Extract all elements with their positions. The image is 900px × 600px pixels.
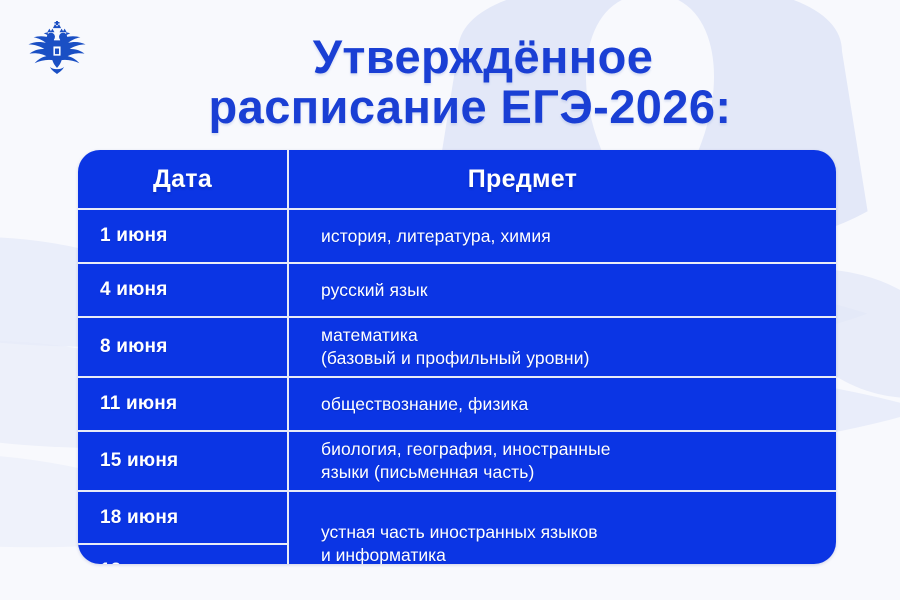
page-title-line-1: Утверждённое — [70, 32, 860, 82]
column-header-date: Дата — [78, 150, 287, 208]
subject-line: биология, география, иностранные — [321, 438, 611, 461]
table-row: 8 июня математика (базовый и профильный … — [78, 318, 836, 376]
cell-date: 1 июня — [78, 210, 287, 262]
table-row-merged: 18 июня 19 июня устная часть иностранных… — [78, 492, 836, 564]
double-headed-eagle-emblem-icon — [26, 20, 88, 76]
merged-date-cells: 18 июня 19 июня — [78, 492, 287, 564]
cell-date: 15 июня — [78, 432, 287, 490]
table-row: 11 июня обществознание, физика — [78, 378, 836, 430]
subject-line: (базовый и профильный уровни) — [321, 347, 590, 370]
page-title: Утверждённое расписание ЕГЭ-2026: — [70, 32, 860, 132]
table-row: 15 июня биология, география, иностранные… — [78, 432, 836, 490]
cell-subject: математика (базовый и профильный уровни) — [287, 318, 836, 376]
cell-date: 11 июня — [78, 378, 287, 430]
subject-line: и информатика — [321, 544, 598, 564]
subject-line: история, литература, химия — [321, 225, 551, 248]
exam-schedule-table: Дата Предмет 1 июня история, литература,… — [78, 150, 836, 564]
subject-line: языки (письменная часть) — [321, 461, 611, 484]
subject-line: обществознание, физика — [321, 393, 528, 416]
column-divider — [287, 150, 289, 564]
cell-date: 4 июня — [78, 264, 287, 316]
cell-subject: русский язык — [287, 264, 836, 316]
table-row: 1 июня история, литература, химия — [78, 210, 836, 262]
subject-line: математика — [321, 324, 590, 347]
cell-subject: обществознание, физика — [287, 378, 836, 430]
subject-line: устная часть иностранных языков — [321, 521, 598, 544]
table-header-row: Дата Предмет — [78, 150, 836, 208]
cell-subject: биология, география, иностранные языки (… — [287, 432, 836, 490]
cell-date: 19 июня — [78, 545, 287, 564]
cell-subject-merged: устная часть иностранных языков и информ… — [287, 492, 836, 564]
column-header-subject: Предмет — [287, 150, 836, 208]
subject-line: русский язык — [321, 279, 428, 302]
cell-date: 18 июня — [78, 492, 287, 543]
cell-date: 8 июня — [78, 318, 287, 376]
table-row: 4 июня русский язык — [78, 264, 836, 316]
cell-subject: история, литература, химия — [287, 210, 836, 262]
page-title-line-2: расписание ЕГЭ-2026: — [70, 82, 860, 132]
